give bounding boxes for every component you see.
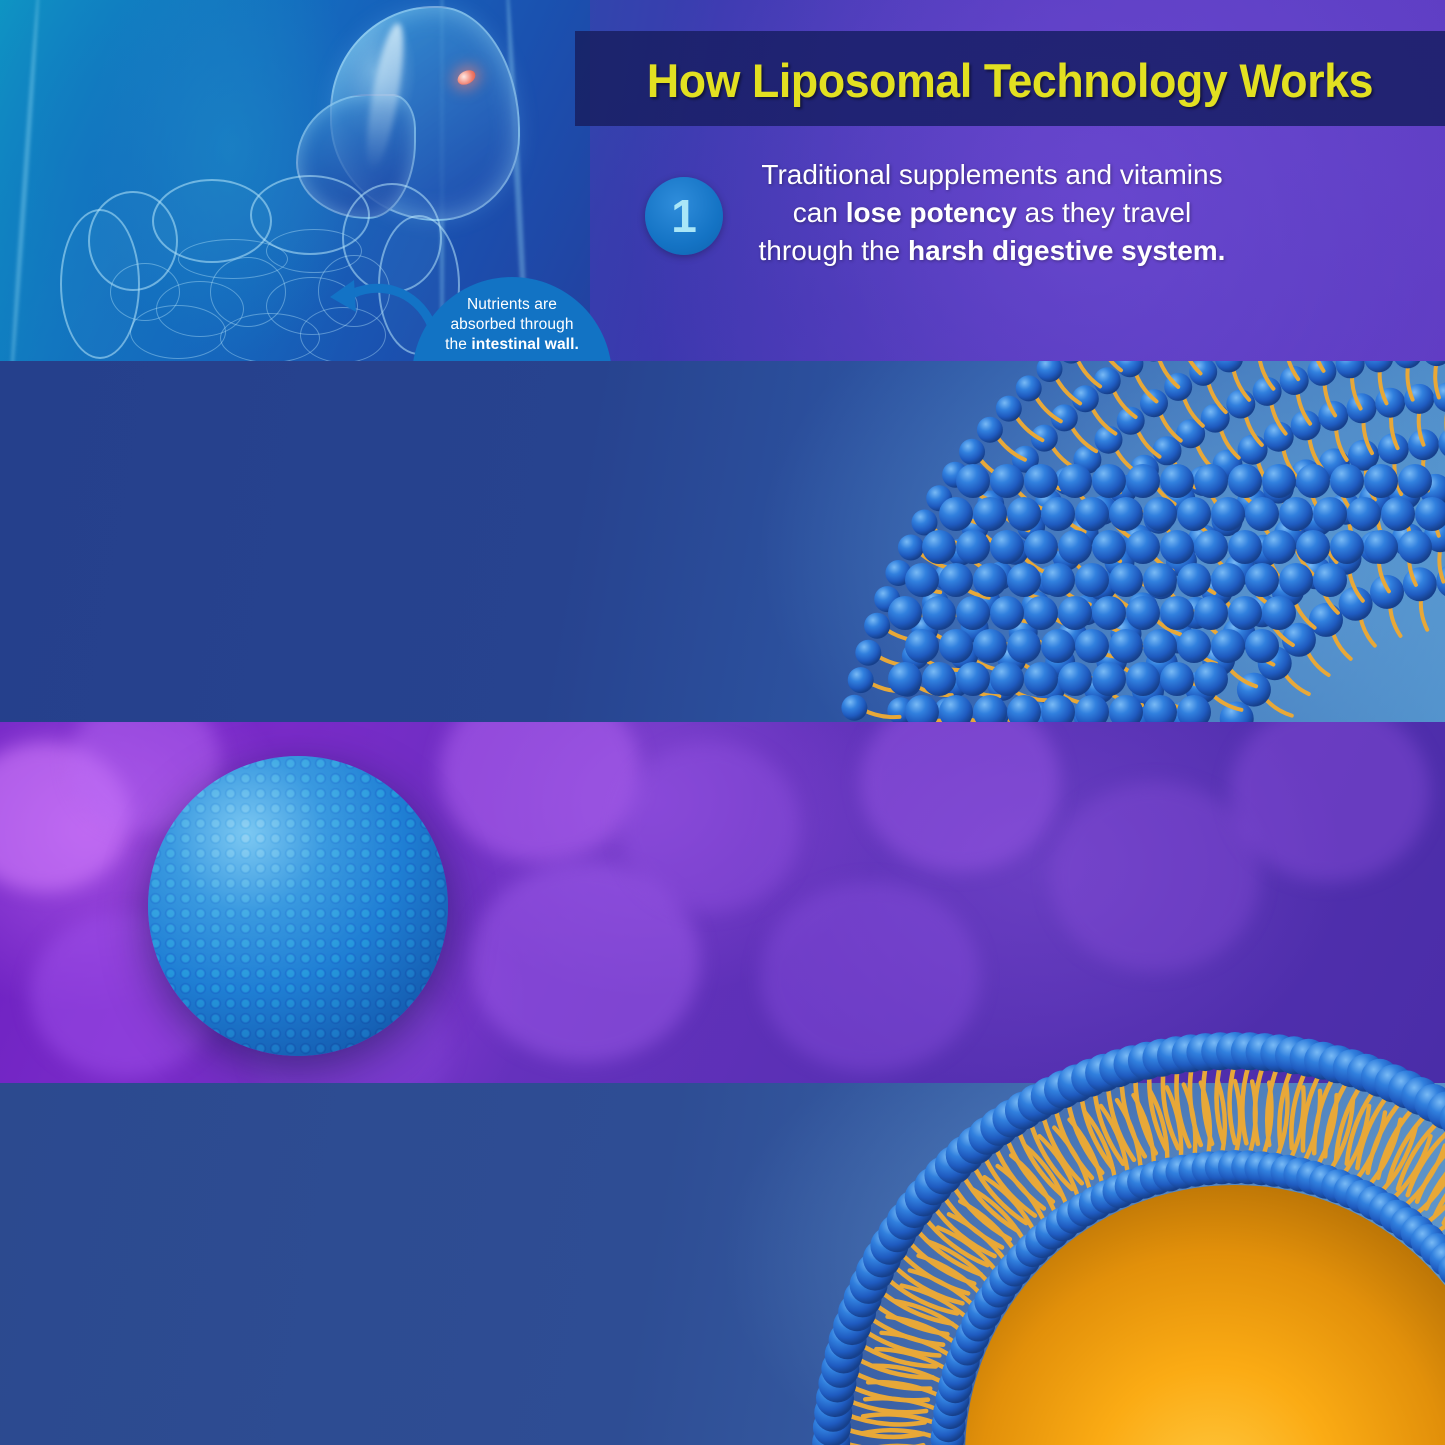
liposome-sphere [148,756,448,1056]
step-4-panel: 4 Now, more nutrient can reach its desti… [0,1083,1445,1445]
step-line: Traditional supplements and vitamins [732,156,1252,194]
step-1-badge: 1 [645,177,723,255]
step-3-panel: 3 This helps shield nutrients from the s… [0,722,1445,1083]
page-title: How Liposomal Technology Works [597,40,1424,120]
step-1-number: 1 [671,189,697,243]
phospholipid-bilayer-illustration [0,361,1445,722]
liposomal-technology-infographic: Nutrients are absorbed through the intes… [0,0,1445,1445]
step-4-background [0,1083,1445,1445]
callout-line: Nutrients are [412,295,612,315]
step-line: can lose potency as they travel [732,194,1252,232]
liposome-surface-texture [148,756,448,1056]
callout-line: absorbed through [412,315,612,335]
step-2-panel: 2 However, our vitamins and supplements … [0,361,1445,722]
step-1-text: Traditional supplements and vitamins can… [732,156,1252,270]
callout-line: the intestinal wall. [412,335,612,355]
step-line: through the harsh digestive system. [732,232,1252,270]
step-1-panel: Nutrients are absorbed through the intes… [0,0,1445,361]
